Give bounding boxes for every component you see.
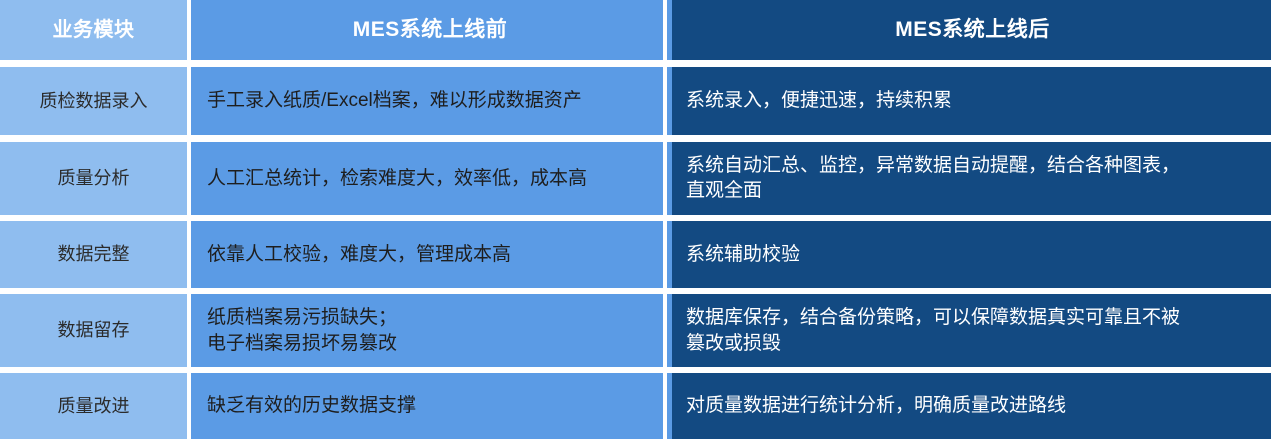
cell-text-after: 对质量数据进行统计分析，明确质量改进路线 xyxy=(672,393,1078,418)
header-cell-before: MES系统上线前 xyxy=(191,0,663,60)
cell-after: 系统录入，便捷迅速，持续积累 xyxy=(667,67,1271,135)
header-cell-module: 业务模块 xyxy=(0,0,187,60)
header-label-module: 业务模块 xyxy=(0,17,187,44)
cell-text-after: 数据库保存，结合备份策略，可以保障数据真实可靠且不被 篡改或损毁 xyxy=(672,305,1192,356)
cell-text-before: 缺乏有效的历史数据支撑 xyxy=(191,393,426,418)
cell-module: 数据留存 xyxy=(0,294,187,367)
cell-text-module: 数据留存 xyxy=(0,318,187,342)
table-header-row: 业务模块 MES系统上线前 MES系统上线后 xyxy=(0,0,1271,60)
table-row: 数据完整 依靠人工校验，难度大，管理成本高 系统辅助校验 xyxy=(0,221,1271,288)
header-label-after: MES系统上线后 xyxy=(672,16,1271,44)
mes-comparison-table: 业务模块 MES系统上线前 MES系统上线后 质检数据录入 手工录入纸质/Exc… xyxy=(0,0,1271,439)
cell-text-module: 质量改进 xyxy=(0,394,187,418)
cell-text-module: 数据完整 xyxy=(0,242,187,266)
cell-text-module: 质量分析 xyxy=(0,166,187,190)
cell-text-before: 依靠人工校验，难度大，管理成本高 xyxy=(191,242,521,267)
cell-after: 系统自动汇总、监控，异常数据自动提醒，结合各种图表， 直观全面 xyxy=(667,142,1271,215)
table-row: 数据留存 纸质档案易污损缺失； 电子档案易损坏易篡改 数据库保存，结合备份策略，… xyxy=(0,294,1271,367)
table-row: 质量改进 缺乏有效的历史数据支撑 对质量数据进行统计分析，明确质量改进路线 xyxy=(0,373,1271,439)
cell-text-before: 手工录入纸质/Excel档案，难以形成数据资产 xyxy=(191,88,592,113)
cell-before: 人工汇总统计，检索难度大，效率低，成本高 xyxy=(191,142,663,215)
table-row: 质量分析 人工汇总统计，检索难度大，效率低，成本高 系统自动汇总、监控，异常数据… xyxy=(0,142,1271,215)
header-cell-after: MES系统上线后 xyxy=(667,0,1271,60)
cell-module: 数据完整 xyxy=(0,221,187,288)
cell-text-before: 纸质档案易污损缺失； 电子档案易损坏易篡改 xyxy=(191,305,407,356)
cell-text-module: 质检数据录入 xyxy=(0,89,187,113)
header-label-before: MES系统上线前 xyxy=(191,16,663,44)
cell-after: 系统辅助校验 xyxy=(667,221,1271,288)
cell-text-before: 人工汇总统计，检索难度大，效率低，成本高 xyxy=(191,166,597,191)
cell-before: 纸质档案易污损缺失； 电子档案易损坏易篡改 xyxy=(191,294,663,367)
cell-module: 质量改进 xyxy=(0,373,187,439)
cell-before: 依靠人工校验，难度大，管理成本高 xyxy=(191,221,663,288)
cell-module: 质检数据录入 xyxy=(0,67,187,135)
cell-text-after: 系统录入，便捷迅速，持续积累 xyxy=(672,88,964,113)
cell-module: 质量分析 xyxy=(0,142,187,215)
cell-before: 手工录入纸质/Excel档案，难以形成数据资产 xyxy=(191,67,663,135)
cell-text-after: 系统自动汇总、监控，异常数据自动提醒，结合各种图表， 直观全面 xyxy=(672,153,1192,204)
table-row: 质检数据录入 手工录入纸质/Excel档案，难以形成数据资产 系统录入，便捷迅速… xyxy=(0,67,1271,135)
cell-after: 数据库保存，结合备份策略，可以保障数据真实可靠且不被 篡改或损毁 xyxy=(667,294,1271,367)
row-divider xyxy=(0,135,1271,142)
row-divider-header xyxy=(0,60,1271,67)
cell-text-after: 系统辅助校验 xyxy=(672,242,812,267)
cell-before: 缺乏有效的历史数据支撑 xyxy=(191,373,663,439)
cell-after: 对质量数据进行统计分析，明确质量改进路线 xyxy=(667,373,1271,439)
